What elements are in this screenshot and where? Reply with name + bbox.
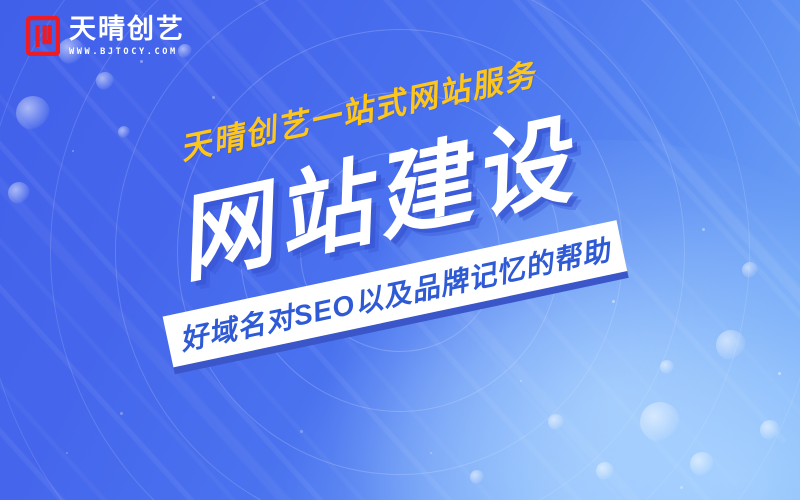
diagonal-streaks-bold xyxy=(0,0,800,500)
promo-banner: 天晴创艺 WWW.BJTOCY.COM 天晴创艺一站式网站服务 网站建设 好域名… xyxy=(0,0,800,500)
ring-6 xyxy=(0,0,800,500)
hero-ribbon-text: 好域名对SEO以及品牌记忆的帮助 xyxy=(163,220,628,367)
bokeh-dot xyxy=(760,420,780,440)
bokeh-dot xyxy=(596,462,614,480)
bokeh-dot xyxy=(470,470,484,484)
ring-4 xyxy=(115,0,685,500)
logo-brand-name: 天晴创艺 xyxy=(69,15,185,43)
hero-title: 网站建设 xyxy=(168,113,583,290)
sparkle-dot xyxy=(66,452,68,454)
logo-website-url: WWW.BJTOCY.COM xyxy=(69,47,185,57)
sparkle-dot xyxy=(680,486,683,489)
sparkle-dot xyxy=(212,96,215,99)
bokeh-dot xyxy=(660,360,674,374)
ring-2 xyxy=(240,92,560,412)
corner-glow xyxy=(300,140,800,500)
ring-7 xyxy=(0,0,800,500)
ring-3 xyxy=(177,29,623,475)
sparkle-dot xyxy=(300,430,303,433)
ring-1 xyxy=(300,152,500,352)
sparkle-dot xyxy=(778,372,781,375)
brand-logo[interactable]: 天晴创艺 WWW.BJTOCY.COM xyxy=(26,15,185,57)
sparkle-dot xyxy=(140,60,143,63)
bokeh-dot xyxy=(8,182,30,204)
sparkle-dot xyxy=(430,452,432,454)
bokeh-dot xyxy=(118,126,130,138)
sparkle-dot xyxy=(612,300,615,303)
bokeh-dot xyxy=(96,72,114,90)
hero-content: 天晴创艺一站式网站服务 网站建设 好域名对SEO以及品牌记忆的帮助 xyxy=(0,0,800,500)
hero-ribbon: 好域名对SEO以及品牌记忆的帮助 xyxy=(163,220,628,367)
bokeh-dot xyxy=(742,262,758,278)
sparkle-dot xyxy=(520,380,522,382)
hero-subtitle: 天晴创艺一站式网站服务 xyxy=(175,49,539,168)
bokeh-dot xyxy=(716,330,746,360)
bokeh-dot xyxy=(690,452,714,476)
ring-5 xyxy=(50,0,750,500)
background-decoration xyxy=(0,0,800,500)
bokeh-dot xyxy=(16,96,50,130)
bokeh-dot xyxy=(548,414,564,430)
logo-mark-icon xyxy=(26,16,60,56)
bokeh-dot xyxy=(640,402,680,442)
sparkle-dot xyxy=(702,228,705,231)
sparkle-dot xyxy=(72,150,74,152)
logo-text-block: 天晴创艺 WWW.BJTOCY.COM xyxy=(69,15,185,57)
diagonal-streaks-fine xyxy=(0,0,800,500)
sparkle-dot xyxy=(120,412,123,415)
